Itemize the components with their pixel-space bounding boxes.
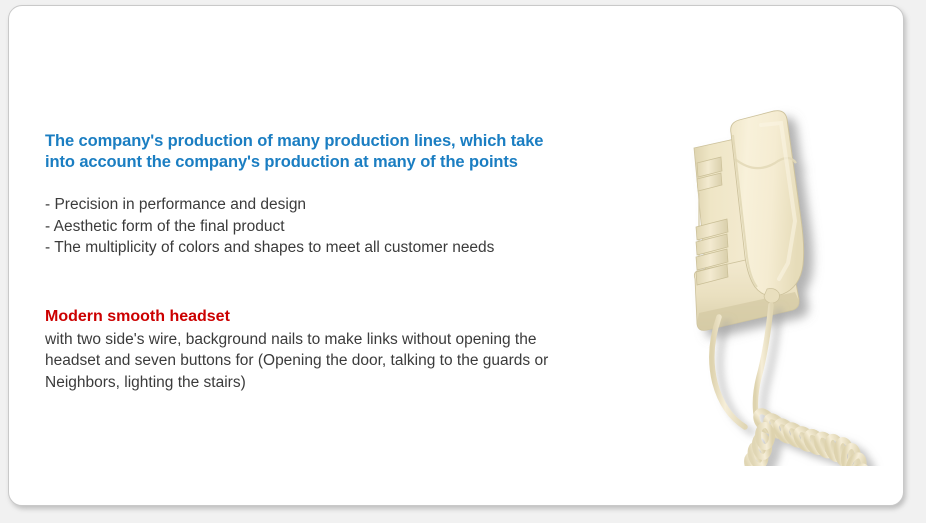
- intercom-body: [694, 111, 804, 331]
- cord-anchor: [764, 289, 779, 304]
- cord-strand-right: [755, 305, 771, 419]
- list-item: - The multiplicity of colors and shapes …: [45, 237, 575, 259]
- feature-bullet-list: - Precision in performance and design - …: [45, 194, 575, 259]
- intercom-handset-icon: [649, 101, 889, 466]
- cord-strand-left: [712, 317, 745, 427]
- list-item: - Precision in performance and design: [45, 194, 575, 216]
- content-card: The company's production of many product…: [8, 5, 904, 506]
- cord-coil: [743, 408, 871, 466]
- headset-description-section: Modern smooth headset with two side's wi…: [45, 306, 575, 394]
- page-background: The company's production of many product…: [0, 0, 926, 523]
- intercom-handset-image: [649, 101, 889, 466]
- headset-paragraph: with two side's wire, background nails t…: [45, 329, 555, 394]
- red-heading: Modern smooth headset: [45, 306, 575, 327]
- blue-heading: The company's production of many product…: [45, 131, 575, 173]
- handset-cord: [712, 305, 871, 466]
- list-item: - Aesthetic form of the final product: [45, 216, 575, 238]
- text-column: The company's production of many product…: [45, 131, 575, 393]
